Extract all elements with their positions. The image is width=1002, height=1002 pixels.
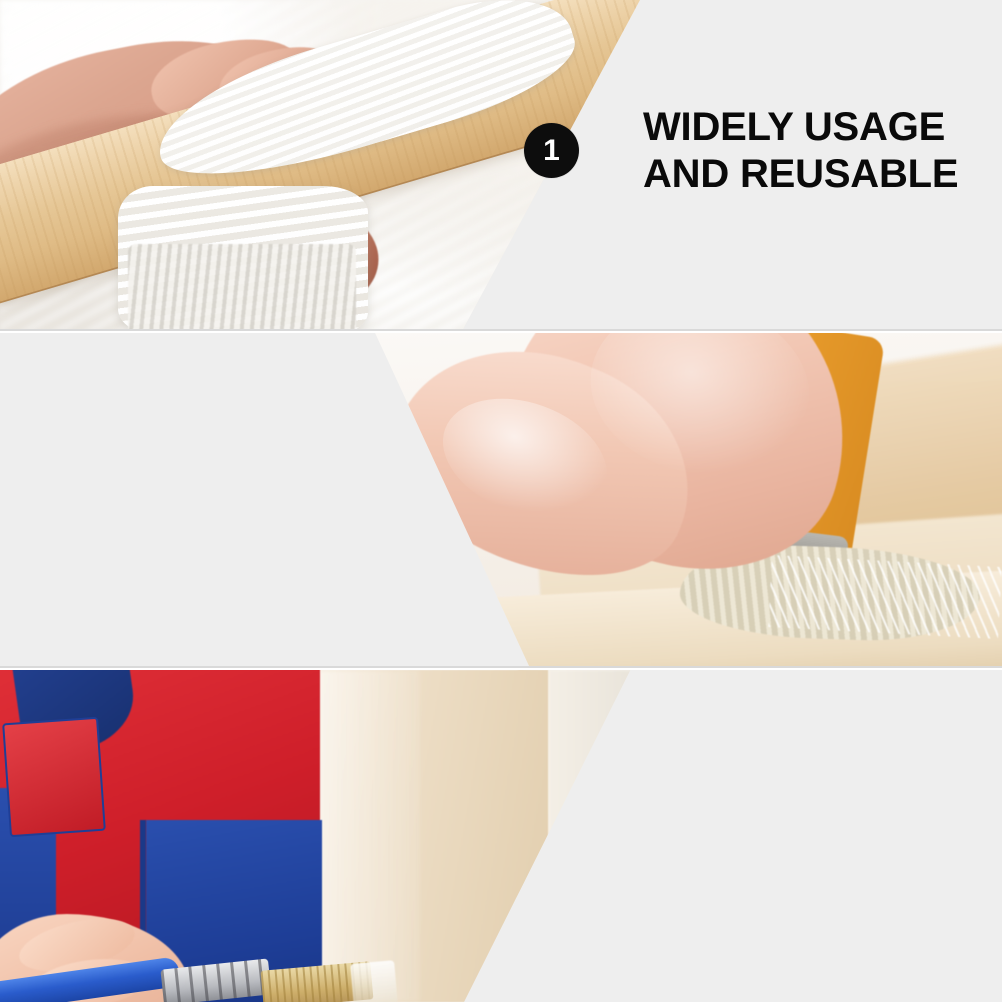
brush-tip-glue xyxy=(350,960,398,1002)
panel-separator-2 xyxy=(0,666,1002,668)
panel-1-caption: WIDELY USAGE AND REUSABLE xyxy=(643,104,958,198)
step-number-badge-1: 1 xyxy=(524,123,579,178)
feature-panel-2: DANGER: EXTREMELY FLAMMABLE. HARMFUL IF … xyxy=(0,333,1002,668)
chest-pocket xyxy=(2,717,106,837)
panel-separator-1 xyxy=(0,329,1002,331)
glue-strands xyxy=(768,555,1001,639)
feature-panel-1: 1 WIDELY USAGE AND REUSABLE xyxy=(0,0,1002,331)
glue-blob-texture xyxy=(128,244,356,331)
infographic-root: 1 WIDELY USAGE AND REUSABLE DANGER: EXTR… xyxy=(0,0,1002,1002)
feature-panel-3: 3 COMFORTABLE GRIP, STRONGER xyxy=(0,670,1002,1002)
